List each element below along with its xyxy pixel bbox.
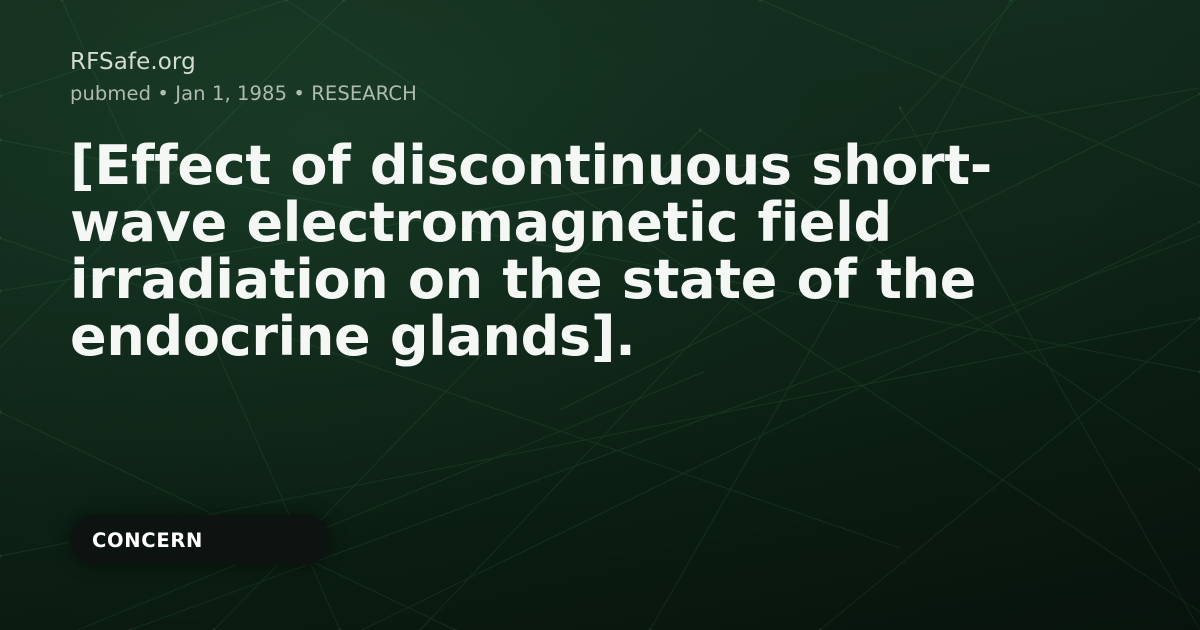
status-badge: CONCERN (70, 515, 330, 565)
page-title: [Effect of discontinuous short-wave elec… (70, 107, 1112, 365)
brand-name: RFSafe.org (70, 40, 1130, 77)
meta-line: pubmed • Jan 1, 1985 • RESEARCH (70, 77, 1130, 107)
social-card: RFSafe.org pubmed • Jan 1, 1985 • RESEAR… (0, 0, 1200, 630)
badge-row: CONCERN (70, 515, 330, 565)
